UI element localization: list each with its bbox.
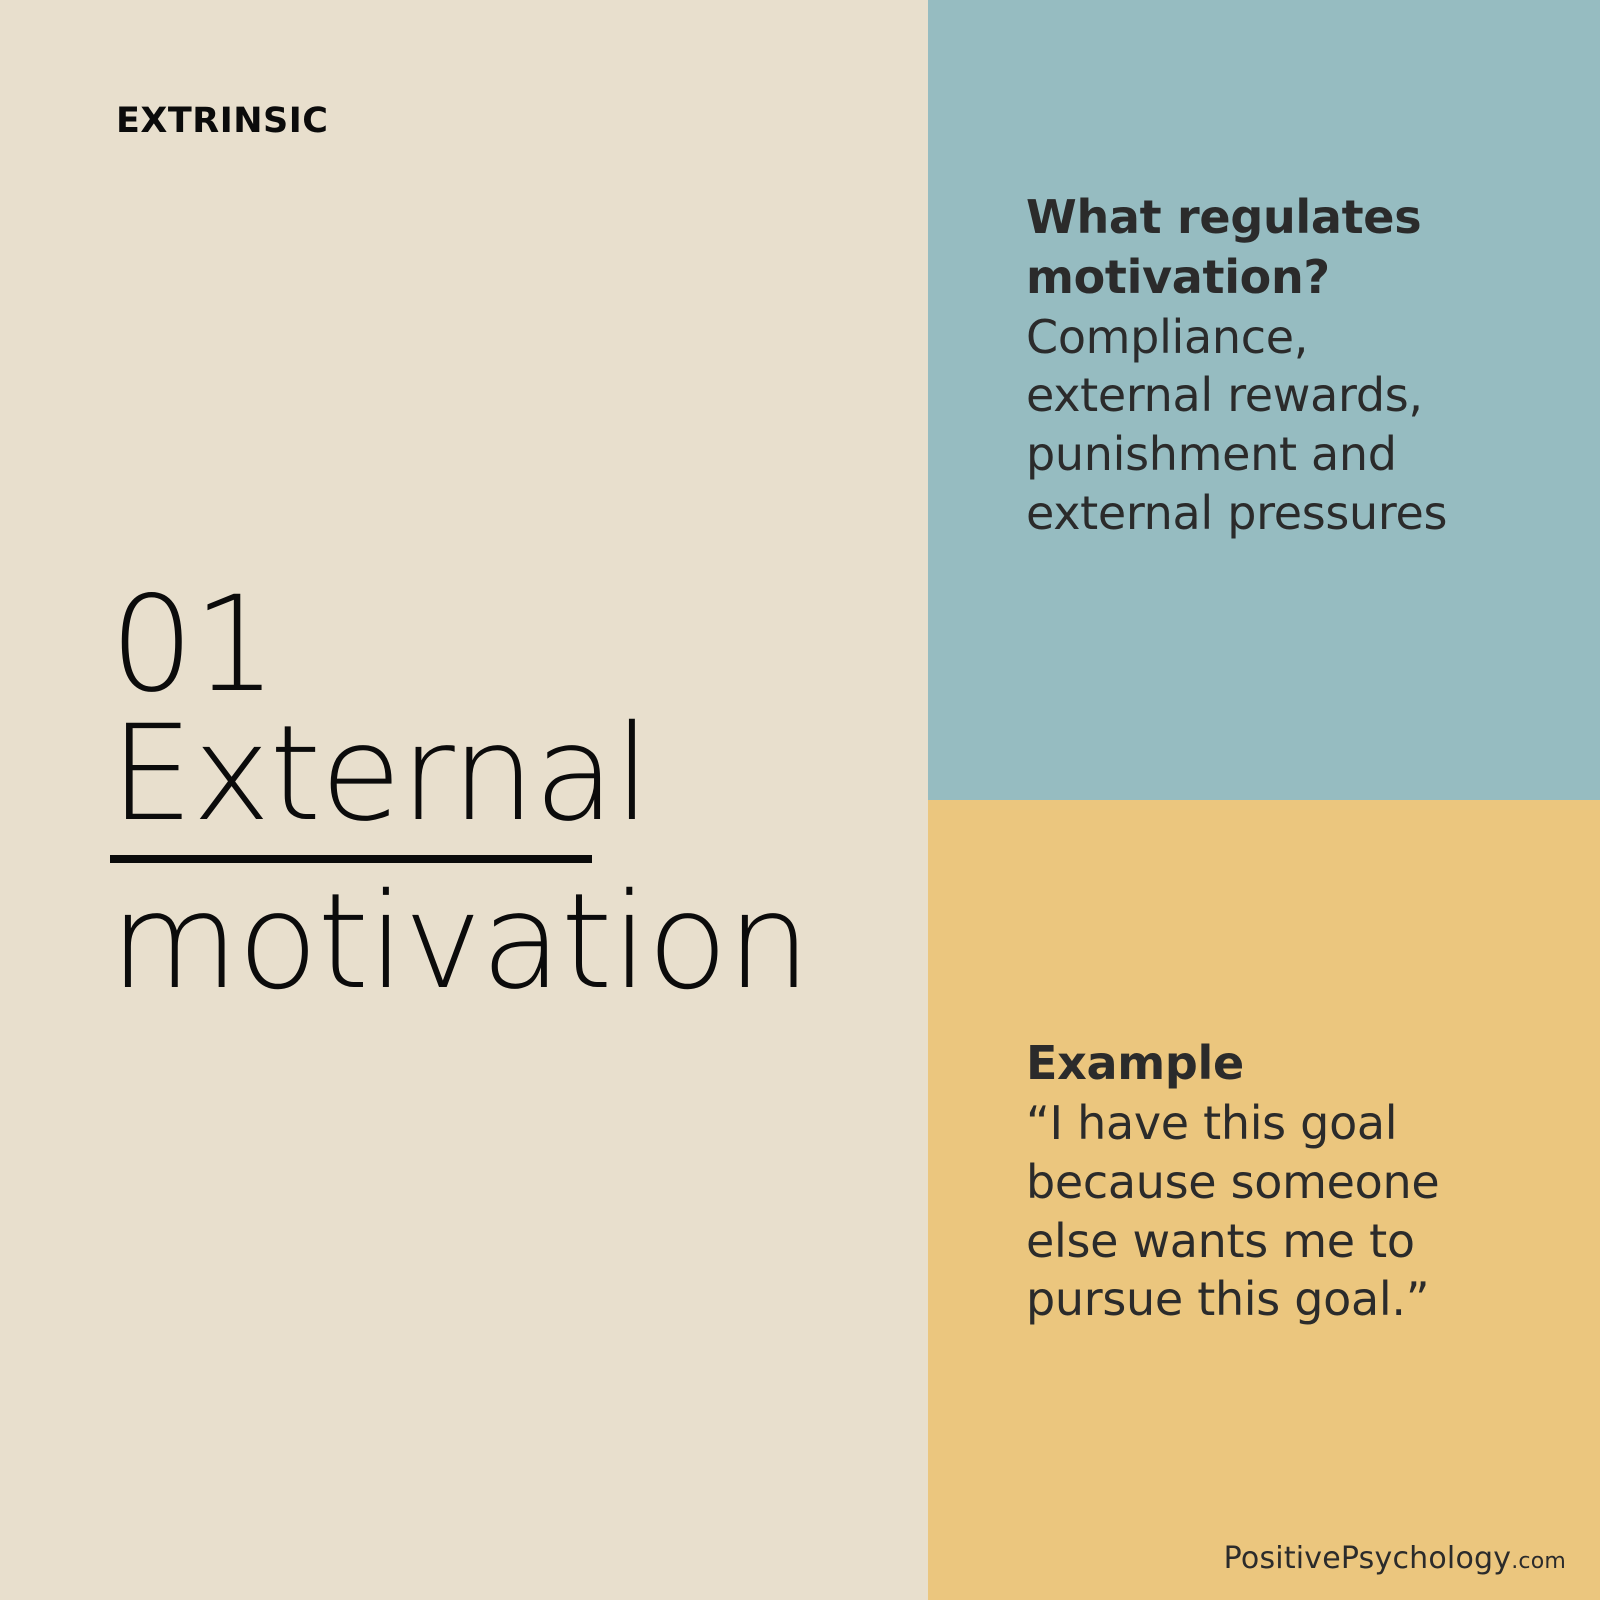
blue-panel-heading: What regulates motivation? — [1026, 188, 1496, 308]
blue-panel-body: Compliance, external rewards, punishment… — [1026, 308, 1496, 544]
title-underline-rule — [110, 855, 592, 863]
blue-panel-content: What regulates motivation? Compliance, e… — [1026, 188, 1496, 543]
title-line-external: External — [110, 707, 870, 842]
title-block: 01 External motivation — [110, 578, 870, 1010]
brand-watermark: PositivePsychology.com — [1224, 1541, 1566, 1576]
brand-tld: .com — [1511, 1549, 1566, 1574]
infographic-canvas: EXTRINSIC 01 External motivation What re… — [0, 0, 1600, 1600]
gold-panel-heading: Example — [1026, 1034, 1506, 1094]
gold-panel-body: “I have this goal because someone else w… — [1026, 1094, 1506, 1330]
brand-name: PositivePsychology — [1224, 1541, 1512, 1576]
category-label: EXTRINSIC — [116, 104, 328, 139]
left-panel: EXTRINSIC 01 External motivation — [0, 0, 928, 1600]
gold-panel-content: Example “I have this goal because someon… — [1026, 1034, 1506, 1329]
title-line-motivation: motivation — [110, 875, 870, 1010]
item-number: 01 — [110, 578, 870, 713]
